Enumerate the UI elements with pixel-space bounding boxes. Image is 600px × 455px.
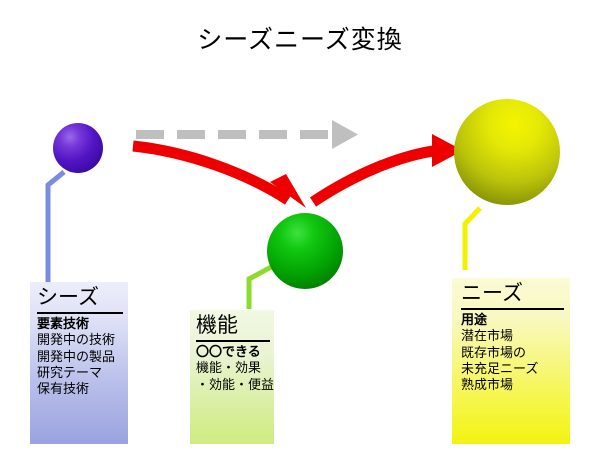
panel-seeds-item: 開発中の製品 [37, 350, 122, 366]
panel-needs-item: 熟成市場 [461, 378, 565, 394]
panel-seeds-heading: シーズ [37, 286, 122, 308]
seeds-sphere [53, 123, 103, 173]
connector-function [249, 266, 273, 309]
panel-function-subheading: 〇〇できる [196, 345, 270, 361]
dashed-progress-arrow [136, 120, 358, 149]
panel-needs-heading: ニーズ [461, 282, 565, 304]
panel-needs[interactable]: ニーズ 用途 潜在市場 既存市場の 未充足ニーズ 熟成市場 [452, 278, 570, 444]
connector-needs [465, 208, 480, 270]
panel-needs-item: 潜在市場 [461, 329, 565, 345]
panel-seeds-item: 開発中の技術 [37, 333, 122, 349]
function-to-needs-arrow [313, 134, 463, 202]
panel-function-item: ・効能・便益 [196, 378, 270, 394]
function-sphere [267, 213, 343, 289]
seeds-to-function-arrow [133, 146, 306, 208]
page-title: シーズニーズ変換 [0, 20, 600, 56]
panel-function-heading: 機能 [196, 314, 270, 336]
panel-seeds-item: 研究テーマ [37, 366, 122, 382]
panel-seeds-item: 保有技術 [37, 382, 122, 398]
panel-function-divider [196, 340, 270, 342]
panel-function[interactable]: 機能 〇〇できる 機能・効果 ・効能・便益 [190, 310, 274, 444]
panel-seeds-divider [37, 312, 123, 314]
needs-sphere [454, 99, 560, 205]
panel-needs-item: 未充足ニーズ [461, 362, 565, 378]
panel-needs-subheading: 用途 [461, 313, 565, 329]
panel-needs-divider [461, 308, 564, 310]
panel-function-item: 機能・効果 [196, 361, 270, 377]
panel-needs-item: 既存市場の [461, 346, 565, 362]
connector-seeds [48, 172, 64, 288]
slide-canvas: シーズニーズ変換 [0, 0, 600, 455]
panel-seeds-subheading: 要素技術 [37, 317, 122, 333]
panel-seeds[interactable]: シーズ 要素技術 開発中の技術 開発中の製品 研究テーマ 保有技術 [30, 282, 128, 444]
